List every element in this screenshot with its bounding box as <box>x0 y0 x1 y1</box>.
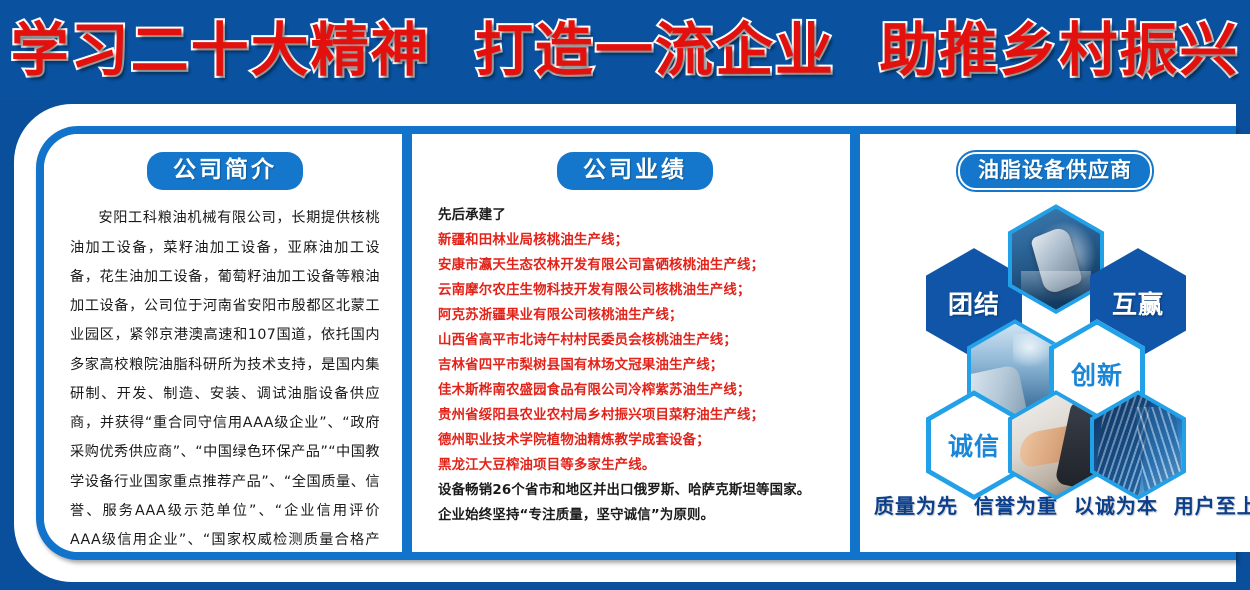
badge-company-performance: 公司业绩 <box>557 152 713 190</box>
performance-tail: 设备畅销26个省市和地区并出口俄罗斯、哈萨克斯坦等国家。 <box>438 479 832 504</box>
panel-divider-2 <box>850 126 860 560</box>
performance-item: 安康市瀛天生态农林开发有限公司富硒核桃油生产线； <box>438 254 832 279</box>
performance-item: 山西省高平市北诗午村村民委员会核桃油生产线； <box>438 329 832 354</box>
panel-divider-1 <box>402 126 412 560</box>
title-banner: 学习二十大精神 打造一流企业 助推乡村振兴 <box>0 0 1250 100</box>
performance-item: 云南摩尔农庄生物科技开发有限公司核桃油生产线； <box>438 279 832 304</box>
performance-body: 先后承建了 新疆和田林业局核桃油生产线； 安康市瀛天生态农林开发有限公司富硒核桃… <box>438 204 832 528</box>
badge-row-supplier: 油脂设备供应商 <box>874 152 1236 190</box>
aircraft-carrier-icon <box>1008 204 1104 314</box>
panel-supplier: 油脂设备供应商 团结 互赢 <box>860 134 1250 552</box>
performance-tail: 企业始终坚持“专注质量，坚守诚信”为原则。 <box>438 504 832 529</box>
performance-item: 阿克苏浙疆果业有限公司核桃油生产线； <box>438 304 832 329</box>
hexagon-cluster: 团结 互赢 创新 <box>874 204 1236 476</box>
performance-lead: 先后承建了 <box>438 204 832 229</box>
performance-item: 黑龙江大豆榨油项目等多家生产线。 <box>438 454 832 479</box>
badge-company-profile: 公司简介 <box>147 152 303 190</box>
company-profile-text: 安阳工科粮油机械有限公司，长期提供核桃油加工设备，菜籽油加工设备，亚麻油加工设备… <box>70 204 380 552</box>
hexagon-label-chengxin: 诚信 <box>948 427 1000 463</box>
hexagon-label-chuangxin: 创新 <box>1071 356 1123 392</box>
display-board: 学习二十大精神 打造一流企业 助推乡村振兴 公司简介 安阳工科粮油机械有限公司，… <box>0 0 1250 590</box>
badge-supplier: 油脂设备供应商 <box>958 152 1152 190</box>
performance-item: 德州职业技术学院植物油精炼教学成套设备； <box>438 429 832 454</box>
performance-item: 佳木斯桦南农盛园食品有限公司冷榨紫苏油生产线； <box>438 379 832 404</box>
hexagon-label-huying: 互赢 <box>1112 285 1164 321</box>
panel-company-profile: 公司简介 安阳工科粮油机械有限公司，长期提供核桃油加工设备，菜籽油加工设备，亚麻… <box>44 134 402 552</box>
badge-row-company-profile: 公司简介 <box>70 152 380 190</box>
page-title: 学习二十大精神 打造一流企业 助推乡村振兴 <box>11 21 1240 79</box>
panel-company-performance: 公司业绩 先后承建了 新疆和田林业局核桃油生产线； 安康市瀛天生态农林开发有限公… <box>412 134 850 552</box>
performance-item: 贵州省绥阳县农业农村局乡村振兴项目菜籽油生产线； <box>438 404 832 429</box>
badge-row-company-performance: 公司业绩 <box>438 152 832 190</box>
hexagon-label-tuanjie: 团结 <box>948 285 1000 321</box>
performance-item: 吉林省四平市梨树县国有林场文冠果油生产线； <box>438 354 832 379</box>
performance-item: 新疆和田林业局核桃油生产线； <box>438 229 832 254</box>
